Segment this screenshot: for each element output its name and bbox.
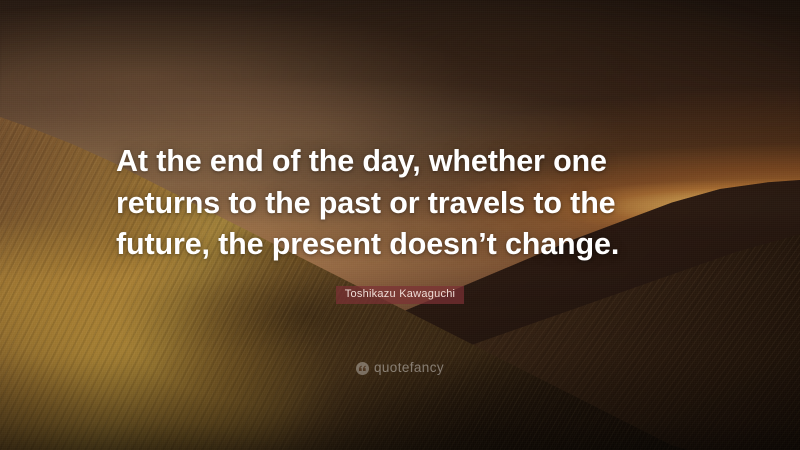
quote-text: At the end of the day, whether one retur… — [116, 141, 702, 266]
quote-image-canvas: At the end of the day, whether one retur… — [0, 0, 800, 450]
watermark-brand: quotefancy — [374, 361, 444, 375]
overlay-content: At the end of the day, whether one retur… — [0, 0, 800, 450]
attribution-row: Toshikazu Kawaguchi — [0, 286, 800, 304]
quote-author: Toshikazu Kawaguchi — [336, 286, 465, 304]
watermark: quotefancy — [0, 361, 800, 375]
quote-badge-icon — [356, 362, 369, 375]
